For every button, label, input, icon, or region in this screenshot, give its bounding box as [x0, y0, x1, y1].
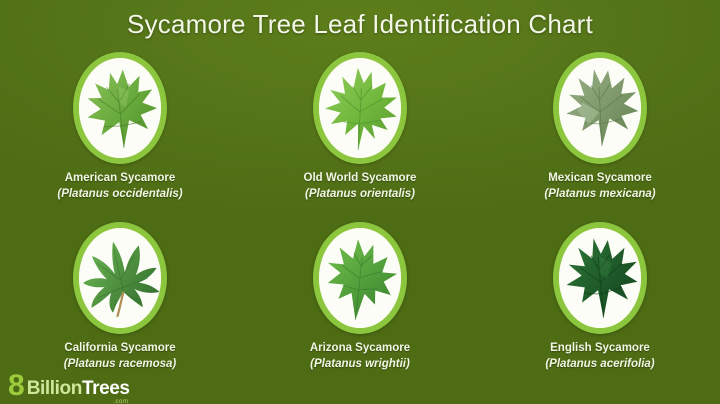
arizona-sycamore-leaf-icon	[319, 228, 401, 328]
mexican-sycamore-leaf-icon	[559, 58, 641, 158]
sycamore-leaf-identification-chart: Sycamore Tree Leaf Identification Chart	[0, 0, 720, 404]
common-name: American Sycamore	[57, 171, 182, 186]
latin-name: (Platanus occidentalis)	[57, 187, 182, 202]
common-name: California Sycamore	[64, 341, 177, 356]
logo-numeral-8: 8	[8, 372, 24, 400]
leaf-caption: Mexican Sycamore (Platanus mexicana)	[544, 171, 655, 202]
leaf-medallion	[553, 222, 647, 334]
california-sycamore-leaf-icon	[79, 228, 161, 328]
leaf-card-california-sycamore: California Sycamore (Platanus racemosa)	[0, 218, 240, 388]
leaf-grid: American Sycamore (Platanus occidentalis…	[0, 48, 720, 388]
common-name: Arizona Sycamore	[310, 341, 410, 356]
leaf-medallion	[553, 52, 647, 164]
american-sycamore-leaf-icon	[79, 58, 161, 158]
title-bar: Sycamore Tree Leaf Identification Chart	[0, 0, 720, 48]
logo-word-trees: Trees	[82, 378, 130, 399]
leaf-medallion	[313, 222, 407, 334]
leaf-caption: Old World Sycamore (Platanus orientalis)	[304, 171, 417, 202]
logo-word-line: BillionTrees	[27, 379, 130, 399]
logo-wordmark: BillionTrees .com	[27, 379, 130, 400]
leaf-medallion	[73, 222, 167, 334]
common-name: Mexican Sycamore	[544, 171, 655, 186]
leaf-card-arizona-sycamore: Arizona Sycamore (Platanus wrightii)	[240, 218, 480, 388]
common-name: Old World Sycamore	[304, 171, 417, 186]
logo-word-billion: Billion	[27, 378, 82, 399]
footer: 8 BillionTrees .com	[0, 368, 720, 404]
old-world-sycamore-leaf-icon	[319, 58, 401, 158]
brand-logo[interactable]: 8 BillionTrees .com	[8, 372, 130, 400]
leaf-medallion	[313, 52, 407, 164]
leaf-caption: American Sycamore (Platanus occidentalis…	[57, 171, 182, 202]
leaf-medallion	[73, 52, 167, 164]
common-name: English Sycamore	[545, 341, 654, 356]
leaf-card-old-world-sycamore: Old World Sycamore (Platanus orientalis)	[240, 48, 480, 218]
leaf-card-english-sycamore: English Sycamore (Platanus acerifolia)	[480, 218, 720, 388]
leaf-card-mexican-sycamore: Mexican Sycamore (Platanus mexicana)	[480, 48, 720, 218]
latin-name: (Platanus mexicana)	[544, 187, 655, 202]
logo-tld: .com	[113, 399, 128, 404]
english-sycamore-leaf-icon	[559, 228, 641, 328]
page-title: Sycamore Tree Leaf Identification Chart	[127, 9, 593, 40]
leaf-card-american-sycamore: American Sycamore (Platanus occidentalis…	[0, 48, 240, 218]
latin-name: (Platanus orientalis)	[304, 187, 417, 202]
